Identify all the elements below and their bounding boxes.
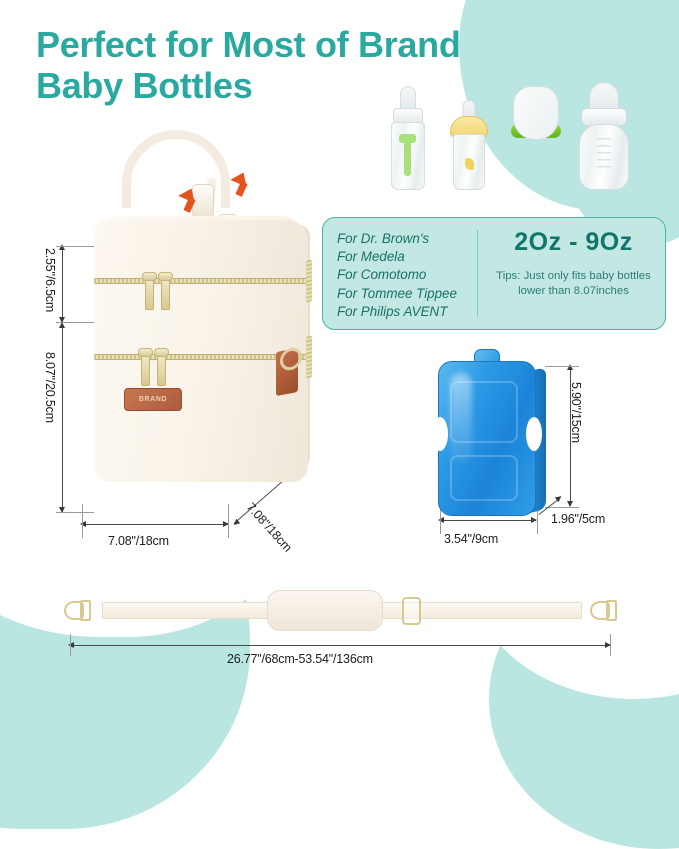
cooler-bag: BRAND xyxy=(80,130,340,530)
strap-dim-length-label: 26.77"/68cm-53.54"/136cm xyxy=(227,652,373,666)
bag-dim-body-height-label: 8.07"/20.5cm xyxy=(43,352,57,423)
brand-label-patch: BRAND xyxy=(124,388,182,411)
capacity-range: 2Oz - 9Oz xyxy=(482,228,665,257)
zipper-pull-upper-b xyxy=(161,280,170,310)
zipper-upper xyxy=(94,278,308,284)
icepack-dim-width-label: 3.54"/9cm xyxy=(444,532,498,546)
strap-hook-right xyxy=(590,599,618,623)
brand-list: For Dr. Brown's For Medela For Comotomo … xyxy=(323,218,473,329)
ice-pack-notch-right xyxy=(526,417,542,451)
divider xyxy=(477,230,478,317)
hook-connector-left xyxy=(80,600,91,621)
ice-pack-highlight xyxy=(450,373,472,463)
hook-connector-right xyxy=(606,600,617,621)
page-title: Perfect for Most of Brand Baby Bottles xyxy=(36,24,461,107)
icepack-dim-height-label: 5.90"/15cm xyxy=(569,382,583,443)
medela-bottle xyxy=(445,96,493,190)
zipper-pull-lower-a xyxy=(141,356,150,386)
ice-pack-notch-left xyxy=(432,417,448,451)
strap-hook-left xyxy=(64,599,92,623)
philips-avent-bottle xyxy=(575,82,633,190)
strap-adjuster-slider xyxy=(402,597,421,625)
zipper-upper-side xyxy=(306,259,312,302)
ice-pack xyxy=(430,345,560,525)
icepack-dim-depth-label: 1.96"/5cm xyxy=(551,512,605,526)
capacity-tips: Tips: Just only fits baby bottles lower … xyxy=(482,269,665,300)
zipper-lower-side xyxy=(306,335,312,378)
comotomo-bottle xyxy=(507,86,565,190)
strap-shoulder-pad xyxy=(267,590,383,631)
bag-dim-width-label: 7.08"/18cm xyxy=(108,534,169,548)
shoulder-strap xyxy=(62,585,622,635)
zipper-pull-lower-b xyxy=(157,356,166,386)
bag-upper-compartment xyxy=(94,220,308,286)
zipper-pull-upper-a xyxy=(145,280,154,310)
bag-dim-top-height-label: 2.55"/6.5cm xyxy=(43,248,57,312)
capacity-section: 2Oz - 9Oz Tips: Just only fits baby bott… xyxy=(482,218,665,329)
compatibility-box: For Dr. Brown's For Medela For Comotomo … xyxy=(322,217,666,330)
product-infographic: Perfect for Most of Brand Baby Bottles xyxy=(0,0,679,679)
